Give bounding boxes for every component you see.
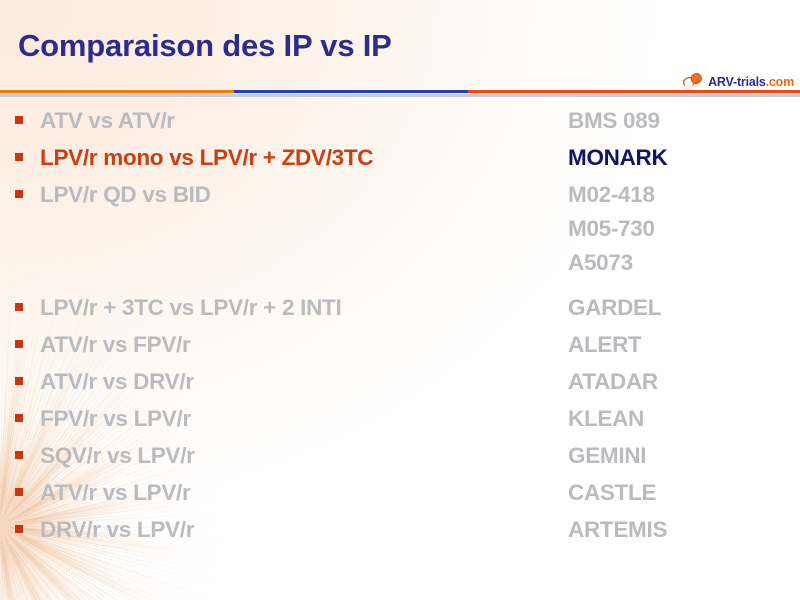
square-bullet-icon: [15, 488, 23, 496]
comparison-row: LPV/r mono vs LPV/r + ZDV/3TCMONARK: [0, 141, 800, 178]
bullet-cell: [0, 104, 40, 124]
bullet-cell: [0, 291, 40, 311]
comparison-row: ATV/r vs FPV/rALERT: [0, 328, 800, 365]
comparison-label: LPV/r QD vs BID: [40, 178, 568, 212]
logo-brand-text: ARV-trials: [708, 75, 766, 89]
slide: Comparaison des IP vs IP ARV-trials.com …: [0, 0, 800, 600]
logo-tld-text: .com: [766, 75, 794, 89]
comparison-label: ATV vs ATV/r: [40, 104, 568, 138]
comparison-row: FPV/r vs LPV/rKLEAN: [0, 402, 800, 439]
trial-name: BMS 089: [568, 104, 800, 138]
comparison-label: LPV/r + 3TC vs LPV/r + 2 INTI: [40, 291, 568, 325]
square-bullet-icon: [15, 303, 23, 311]
comparison-row: LPV/r QD vs BIDM02-418 M05-730 A5073: [0, 178, 800, 277]
comparison-row: ATV/r vs DRV/rATADAR: [0, 365, 800, 402]
square-bullet-icon: [15, 340, 23, 348]
square-bullet-icon: [15, 414, 23, 422]
bullet-cell: [0, 402, 40, 422]
trial-name: ALERT: [568, 328, 800, 362]
pill-capsule-icon: [680, 70, 706, 95]
trial-name: GARDEL: [568, 291, 800, 325]
arv-trials-logo[interactable]: ARV-trials.com: [680, 70, 794, 94]
comparison-row: SQV/r vs LPV/rGEMINI: [0, 439, 800, 476]
comparison-row: LPV/r + 3TC vs LPV/r + 2 INTIGARDEL: [0, 291, 800, 328]
trial-name: KLEAN: [568, 402, 800, 436]
square-bullet-icon: [15, 116, 23, 124]
comparison-label: DRV/r vs LPV/r: [40, 513, 568, 547]
square-bullet-icon: [15, 190, 23, 198]
divider-segment-blue: [234, 90, 468, 93]
comparison-label: ATV/r vs DRV/r: [40, 365, 568, 399]
row-spacer: [0, 277, 800, 291]
comparison-label: SQV/r vs LPV/r: [40, 439, 568, 473]
comparison-label: LPV/r mono vs LPV/r + ZDV/3TC: [40, 141, 568, 175]
trial-name: GEMINI: [568, 439, 800, 473]
trial-name: MONARK: [568, 141, 800, 175]
trial-name: CASTLE: [568, 476, 800, 510]
comparison-row: DRV/r vs LPV/rARTEMIS: [0, 513, 800, 550]
bullet-cell: [0, 476, 40, 496]
bullet-cell: [0, 178, 40, 198]
square-bullet-icon: [15, 451, 23, 459]
bullet-cell: [0, 439, 40, 459]
trial-name: M02-418 M05-730 A5073: [568, 178, 800, 280]
square-bullet-icon: [15, 153, 23, 161]
bullet-cell: [0, 513, 40, 533]
trial-name: ATADAR: [568, 365, 800, 399]
comparison-label: ATV/r vs LPV/r: [40, 476, 568, 510]
comparison-label: FPV/r vs LPV/r: [40, 402, 568, 436]
square-bullet-icon: [15, 377, 23, 385]
bullet-cell: [0, 365, 40, 385]
divider-segment-orange: [0, 90, 234, 93]
trial-name: ARTEMIS: [568, 513, 800, 547]
bullet-cell: [0, 141, 40, 161]
comparison-row: ATV/r vs LPV/rCASTLE: [0, 476, 800, 513]
comparison-label: ATV/r vs FPV/r: [40, 328, 568, 362]
comparison-row: ATV vs ATV/rBMS 089: [0, 104, 800, 141]
square-bullet-icon: [15, 525, 23, 533]
comparison-list: ATV vs ATV/rBMS 089LPV/r mono vs LPV/r +…: [0, 104, 800, 550]
bullet-cell: [0, 328, 40, 348]
page-title: Comparaison des IP vs IP: [18, 28, 392, 64]
